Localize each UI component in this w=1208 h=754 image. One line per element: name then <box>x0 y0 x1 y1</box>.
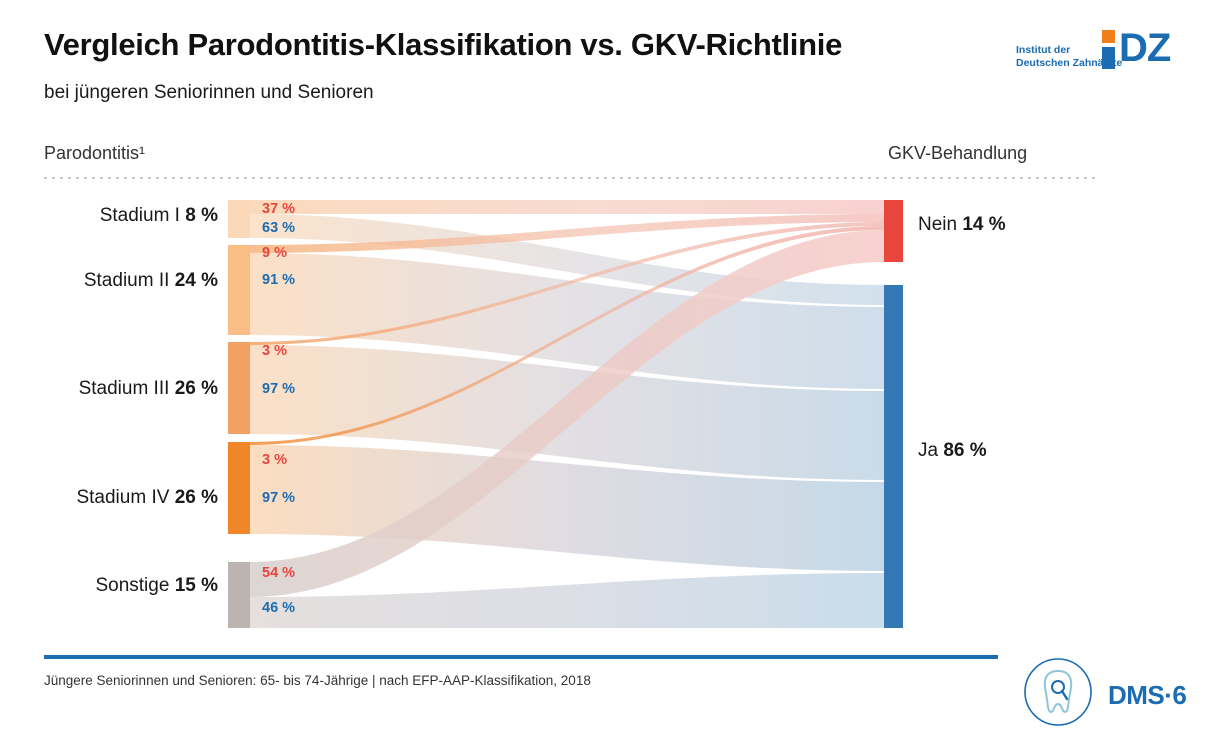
target-value-ja: 86 % <box>943 440 986 461</box>
node-sonstige[interactable] <box>228 562 250 628</box>
footer-divider <box>44 655 998 659</box>
link-pct-st2-ja: 91 % <box>262 272 295 288</box>
stage-value-1: 8 % <box>185 205 218 226</box>
stage-name-5: Sonstige <box>95 575 169 596</box>
stage-label-stadium-4: Stadium IV 26 % <box>34 487 218 509</box>
stage-label-stadium-3: Stadium III 26 % <box>34 378 218 400</box>
footnote-text: Jüngere Seniorinnen und Senioren: 65- bi… <box>44 673 591 688</box>
dms-logo: DMS·6 <box>1016 654 1176 734</box>
link-st1-nein <box>250 200 884 214</box>
node-ja[interactable] <box>884 285 903 628</box>
target-label-nein: Nein 14 % <box>918 214 1006 236</box>
link-pct-sonstige-ja: 46 % <box>262 600 295 616</box>
stage-value-4: 26 % <box>175 487 218 508</box>
target-name-nein: Nein <box>918 214 957 235</box>
link-pct-st1-nein: 37 % <box>262 201 295 217</box>
sankey-nodes-right <box>884 200 903 628</box>
stage-label-stadium-2: Stadium II 24 % <box>34 270 218 292</box>
stage-name-4: Stadium IV <box>76 487 169 508</box>
link-sonstige-ja <box>250 573 884 628</box>
link-pct-st3-nein: 3 % <box>262 343 287 359</box>
link-pct-st4-ja: 97 % <box>262 490 295 506</box>
stage-name-1: Stadium I <box>100 205 180 226</box>
node-stadium-4[interactable] <box>228 442 250 534</box>
target-label-ja: Ja 86 % <box>918 440 987 462</box>
node-stadium-3[interactable] <box>228 342 250 434</box>
infographic-page: Vergleich Parodontitis-Klassifikation vs… <box>0 0 1208 754</box>
stage-name-2: Stadium II <box>84 270 170 291</box>
target-name-ja: Ja <box>918 440 938 461</box>
link-pct-st2-nein: 9 % <box>262 245 287 261</box>
sankey-diagram <box>0 0 1208 754</box>
node-stadium-2[interactable] <box>228 245 250 335</box>
link-pct-st4-nein: 3 % <box>262 452 287 468</box>
dms-logo-text: DMS·6 <box>1108 680 1186 711</box>
stage-value-2: 24 % <box>175 270 218 291</box>
stage-value-3: 26 % <box>175 378 218 399</box>
link-pct-st1-ja: 63 % <box>262 220 295 236</box>
link-pct-sonstige-nein: 54 % <box>262 565 295 581</box>
stage-label-sonstige: Sonstige 15 % <box>34 575 218 597</box>
node-stadium-1[interactable] <box>228 200 250 238</box>
target-value-nein: 14 % <box>962 214 1005 235</box>
sankey-nodes-left <box>228 200 250 628</box>
stage-value-5: 15 % <box>175 575 218 596</box>
node-nein[interactable] <box>884 200 903 262</box>
link-pct-st3-ja: 97 % <box>262 381 295 397</box>
stage-label-stadium-1: Stadium I 8 % <box>34 205 218 227</box>
dms-tooth-icon <box>1016 654 1106 734</box>
stage-name-3: Stadium III <box>79 378 170 399</box>
